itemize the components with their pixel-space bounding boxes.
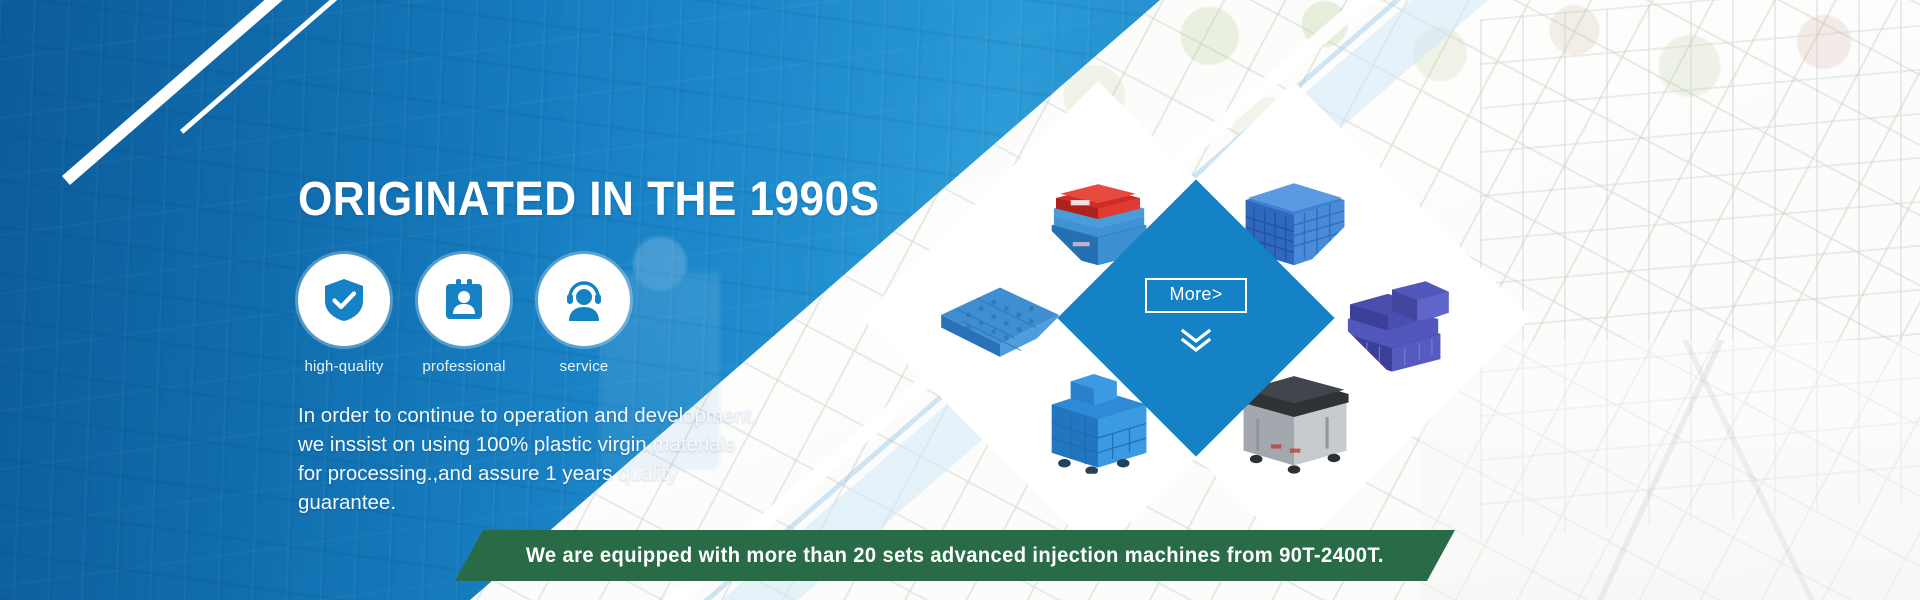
feature-badge-list: high-quality professional	[298, 254, 898, 375]
description-line: In order to continue to operation and de…	[298, 401, 778, 430]
description-line: guarantee.	[298, 488, 778, 517]
description-line: we inssist on using 100% plastic virgin …	[298, 430, 778, 459]
hero-description: In order to continue to operation and de…	[298, 401, 778, 517]
feature-badge-label: professional	[418, 358, 510, 375]
feature-badge-professional[interactable]: professional	[418, 254, 510, 375]
badge-circle	[418, 254, 510, 346]
equipment-ribbon: We are equipped with more than 20 sets a…	[455, 530, 1455, 581]
id-badge-icon	[442, 277, 486, 323]
feature-badge-service[interactable]: service	[538, 254, 630, 375]
feature-badge-label: high-quality	[298, 358, 390, 375]
headset-person-icon	[562, 277, 606, 323]
chevron-double-down-icon[interactable]	[1179, 327, 1213, 358]
more-cta-diamond[interactable]: More>	[1057, 179, 1334, 456]
badge-circle	[298, 254, 390, 346]
page-title: ORIGINATED IN THE 1990S	[298, 176, 850, 224]
description-line: for processing.,and assure 1 years quali…	[298, 459, 778, 488]
feature-badge-label: service	[538, 358, 630, 375]
shield-check-icon	[322, 277, 366, 323]
feature-badge-high-quality[interactable]: high-quality	[298, 254, 390, 375]
company-hero-banner: ORIGINATED IN THE 1990S high-quality	[0, 0, 1920, 600]
product-diamond-grid: More>	[960, 150, 1580, 550]
equipment-ribbon-text: We are equipped with more than 20 sets a…	[526, 544, 1384, 568]
hero-text-block: ORIGINATED IN THE 1990S high-quality	[298, 176, 898, 517]
badge-circle	[538, 254, 630, 346]
more-button[interactable]: More>	[1145, 278, 1246, 313]
